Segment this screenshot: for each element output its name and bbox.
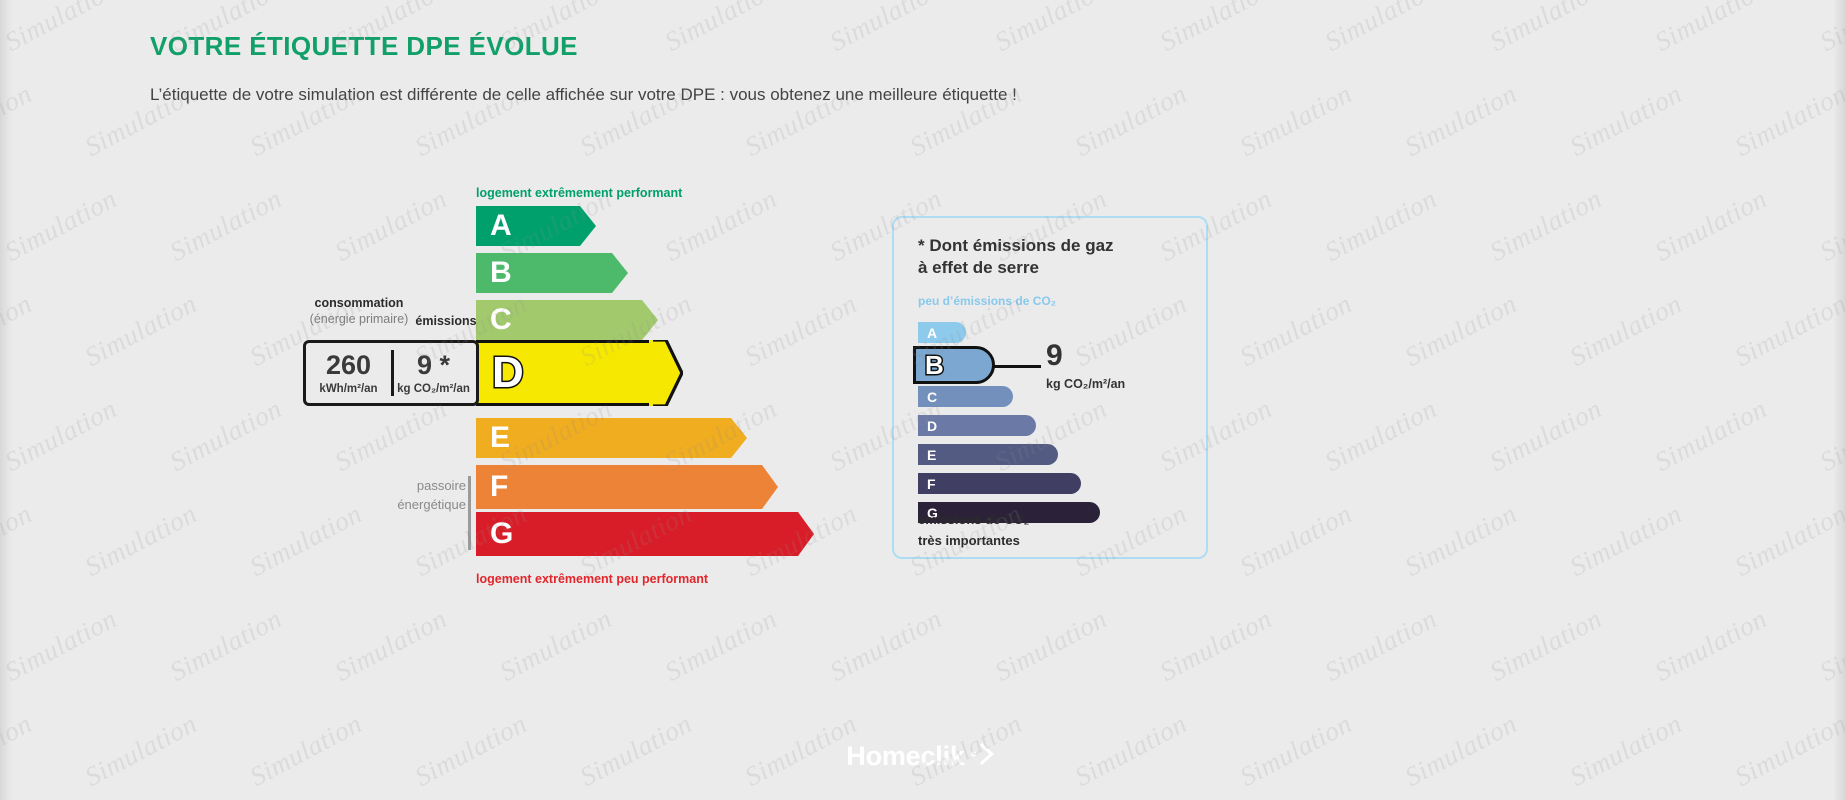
- page-left-edge: [0, 0, 12, 800]
- selected-rating-bar-d: D: [476, 340, 652, 406]
- energy-rating-arrow-icon-g: [788, 512, 814, 556]
- page-title: VOTRE ÉTIQUETTE DPE ÉVOLUE: [150, 31, 578, 62]
- energy-rating-letter-b: B: [490, 258, 512, 288]
- co2-high-caption: émissions de CO₂ très importantes: [918, 510, 1029, 552]
- selected-rating-row: consommation (énergie primaire) émission…: [300, 340, 695, 406]
- best-performance-caption: logement extrêmement performant: [476, 186, 682, 200]
- co2-rating-letter-f: F: [927, 477, 936, 491]
- energy-rating-bar-f: F: [476, 465, 752, 509]
- energy-rating-bar-a: A: [476, 206, 570, 246]
- consumption-value: 260: [326, 352, 371, 379]
- energy-rating-letter-a: A: [490, 211, 512, 241]
- co2-rating-letter-d: D: [927, 419, 937, 433]
- energy-rating-arrow-icon-f: [752, 465, 778, 509]
- dpe-result-page: VOTRE ÉTIQUETTE DPE ÉVOLUE L’étiquette d…: [0, 0, 1845, 800]
- energy-rating-bar-g: G: [476, 512, 788, 556]
- co2-panel-title: * Dont émissions de gaz à effet de serre: [918, 235, 1114, 279]
- page-subtitle: L’étiquette de votre simulation est diff…: [150, 85, 1017, 105]
- co2-low-caption: peu d’émissions de CO₂: [918, 294, 1056, 308]
- co2-rating-letter-e: E: [927, 448, 936, 462]
- co2-value: 9: [1046, 341, 1063, 371]
- energy-rating-arrow-icon-b: [602, 253, 628, 293]
- consumption-label-line1: consommation: [306, 296, 412, 312]
- passoire-line2: énergétique: [360, 496, 466, 515]
- energy-rating-bar-c: C: [476, 300, 632, 340]
- selected-rating-letter: D: [492, 351, 524, 395]
- co2-selected-rating-letter: B: [925, 352, 944, 378]
- values-box: 260 kWh/m²/an 9 * kg CO₂/m²/an: [303, 340, 479, 406]
- energy-rating-bar-e: E: [476, 418, 721, 458]
- emissions-value: 9 *: [417, 352, 450, 379]
- energy-rating-letter-f: F: [490, 472, 508, 502]
- co2-footer-line1: émissions de CO₂: [918, 510, 1029, 531]
- passoire-divider: [468, 476, 471, 550]
- consumption-value-cell: 260 kWh/m²/an: [306, 343, 391, 403]
- homeclik-logo: Homeclik: [846, 740, 998, 773]
- co2-rating-bar-f: F: [918, 473, 1081, 494]
- passoire-note: passoire énergétique: [360, 477, 466, 515]
- energy-rating-arrow-icon-e: [721, 418, 747, 458]
- energy-rating-letter-c: C: [490, 305, 512, 335]
- co2-title-line2: à effet de serre: [918, 257, 1114, 279]
- co2-rating-bar-c: C: [918, 386, 1013, 407]
- emissions-value-cell: 9 * kg CO₂/m²/an: [391, 343, 476, 403]
- energy-rating-arrow-icon-a: [570, 206, 596, 246]
- co2-unit: kg CO₂/m²/an: [1046, 377, 1125, 391]
- co2-rating-bar-d: D: [918, 415, 1036, 436]
- emissions-unit: kg CO₂/m²/an: [397, 383, 470, 395]
- emissions-label: émissions: [412, 314, 480, 328]
- selected-rating-arrow-icon: [649, 340, 683, 411]
- co2-rating-bar-e: E: [918, 444, 1058, 465]
- co2-rating-bar-a: A: [918, 322, 966, 343]
- passoire-line1: passoire: [360, 477, 466, 496]
- logo-text: Homeclik: [846, 741, 964, 772]
- consumption-label: consommation (énergie primaire): [306, 296, 412, 327]
- co2-selected-rating-bar-b: B: [913, 346, 995, 384]
- energy-rating-bar-b: B: [476, 253, 602, 293]
- consumption-unit: kWh/m²/an: [319, 383, 377, 395]
- consumption-label-line2: (énergie primaire): [306, 312, 412, 328]
- energy-rating-arrow-icon-c: [632, 300, 658, 340]
- co2-title-line1: * Dont émissions de gaz: [918, 235, 1114, 257]
- energy-rating-letter-g: G: [490, 519, 513, 549]
- co2-footer-line2: très importantes: [918, 531, 1029, 552]
- page-right-edge: [1833, 0, 1845, 800]
- worst-performance-caption: logement extrêmement peu performant: [476, 572, 708, 586]
- co2-emissions-panel: * Dont émissions de gaz à effet de serre…: [892, 216, 1208, 559]
- co2-rating-letter-a: A: [927, 326, 937, 340]
- co2-rating-letter-c: C: [927, 390, 937, 404]
- co2-leader-line: [989, 365, 1041, 368]
- energy-performance-label: logement extrêmement performant logement…: [300, 180, 840, 595]
- energy-rating-letter-e: E: [490, 423, 510, 453]
- chevron-right-icon: [969, 740, 999, 773]
